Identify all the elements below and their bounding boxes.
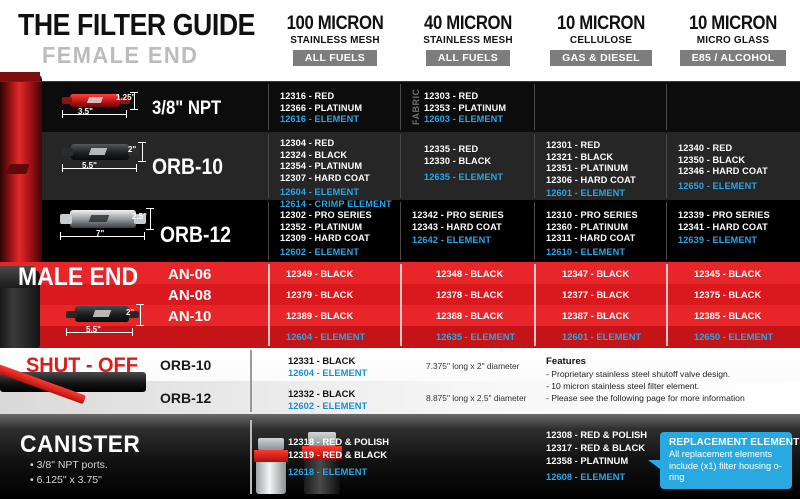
- part-male-10cell-an10: 12387 - BLACK: [562, 310, 629, 321]
- fuel-badge: GAS & DIESEL: [550, 50, 652, 66]
- part-male-40-element: 12635 - ELEMENT: [436, 331, 515, 342]
- part-canister-red-black: 12319 - RED & BLACK: [288, 449, 387, 460]
- female-end-section: 3.5" 1.25" 3/8" NPT 12316 - RED 12366 - …: [0, 82, 800, 262]
- column-divider: [268, 202, 269, 260]
- callout-tail: [648, 460, 660, 469]
- dimension-length-npt: 3.5": [78, 107, 93, 116]
- replacement-elements-callout: REPLACEMENT ELEMENTS All replacement ele…: [660, 432, 792, 489]
- size-label-an06: AN-06: [168, 266, 211, 283]
- size-label-shutoff-orb10: ORB-10: [160, 357, 211, 373]
- column-divider: [534, 202, 535, 260]
- column-divider: [268, 264, 270, 346]
- section-title-canister: CANISTER: [20, 431, 140, 459]
- part-male-10glass-an08: 12375 - BLACK: [694, 289, 761, 300]
- part-male-40-an10: 12388 - BLACK: [436, 310, 503, 321]
- part-cell-orb10-40: 12335 - RED 12330 - BLACK 12635 - ELEMEN…: [424, 144, 503, 184]
- element-canister-12618: 12618 - ELEMENT: [288, 466, 367, 477]
- canister-bullet-ports: • 3/8" NPT ports.: [30, 459, 108, 471]
- dimension-length-orb10: 5.5": [82, 161, 97, 170]
- column-header-100-micron: 100 MICRON STAINLESS MESH ALL FUELS: [270, 14, 400, 66]
- part-male-100-an06: 12349 - BLACK: [286, 268, 353, 279]
- size-label-npt: 3/8" NPT: [152, 98, 221, 120]
- column-divider: [666, 264, 668, 346]
- dimension-diameter-orb12: 2.5": [132, 212, 147, 221]
- dimension-length-male: 5.5": [86, 325, 101, 334]
- section-title-female-end: FEMALE END: [42, 44, 198, 67]
- element-shutoff-orb12: 12602 - ELEMENT: [288, 400, 367, 411]
- part-cell-orb12-100: 12302 - PRO SERIES 12352 - PLATINUM 1230…: [280, 210, 372, 258]
- part-cell-orb12-10microglass: 12339 - PRO SERIES 12341 - HARD COAT 126…: [678, 210, 770, 247]
- column-divider: [400, 202, 401, 260]
- part-male-100-element: 12604 - ELEMENT: [286, 331, 365, 342]
- part-cell-orb10-10cellulose: 12301 - RED 12321 - BLACK 12351 - PLATIN…: [546, 140, 636, 200]
- column-header-10-micron-cellulose: 10 MICRON CELLULOSE GAS & DIESEL: [536, 14, 666, 66]
- column-divider: [250, 420, 252, 494]
- part-cell-orb10-100: 12304 - RED 12324 - BLACK 12354 - PLATIN…: [280, 138, 392, 211]
- column-divider: [400, 134, 401, 198]
- element-canister-12608: 12608 - ELEMENT: [546, 471, 625, 482]
- male-end-section: MALE END 5.5" 2" AN-06 AN-08 AN-10 12349…: [0, 262, 800, 348]
- part-shutoff-orb12: 12332 - BLACK: [288, 388, 355, 399]
- section-title-male-end: MALE END: [18, 263, 138, 292]
- column-divider: [268, 134, 269, 198]
- callout-line-2: include (x1) filter housing o-ring: [669, 461, 784, 483]
- column-divider: [666, 84, 667, 130]
- size-label-orb12: ORB-12: [160, 222, 231, 248]
- dimension-diameter-orb10: 2": [128, 145, 136, 154]
- part-canister2-platinum: 12358 - PLATINUM: [546, 455, 628, 466]
- header: THE FILTER GUIDE FEMALE END 100 MICRON S…: [0, 0, 800, 82]
- column-divider: [268, 84, 269, 130]
- part-male-10glass-element: 12650 - ELEMENT: [694, 331, 773, 342]
- part-male-40-an06: 12348 - BLACK: [436, 268, 503, 279]
- dimension-shutoff-orb12: 8.875" long x 2.5" diameter: [426, 393, 526, 403]
- column-header-40-micron: 40 MICRON STAINLESS MESH ALL FUELS: [402, 14, 534, 66]
- part-male-100-an08: 12379 - BLACK: [286, 289, 353, 300]
- feature-item: - Please see the following page for more…: [546, 393, 745, 403]
- shut-off-section: SHUT - OFF ORB-10 ORB-12 12331 - BLACK 1…: [0, 348, 800, 414]
- column-divider: [400, 84, 401, 130]
- part-cell-orb12-10cellulose: 12310 - PRO SERIES 12360 - PLATINUM 1231…: [546, 210, 638, 258]
- page-title: THE FILTER GUIDE: [18, 9, 255, 40]
- size-label-an10: AN-10: [168, 308, 211, 325]
- canister-bullet-size: • 6.125" x 3.75": [30, 474, 102, 486]
- part-cell-orb12-40: 12342 - PRO SERIES 12343 - HARD COAT 126…: [412, 210, 504, 247]
- dimension-diameter-npt: 1.25": [116, 93, 135, 102]
- part-male-40-an08: 12378 - BLACK: [436, 289, 503, 300]
- column-divider: [534, 264, 536, 346]
- dimension-length-orb12: 7": [96, 229, 104, 238]
- part-male-10cell-element: 12601 - ELEMENT: [562, 331, 641, 342]
- canister-photo-polish: [252, 438, 290, 494]
- part-cell-npt-100: 12316 - RED 12366 - PLATINUM 12616 - ELE…: [280, 91, 362, 126]
- column-divider: [534, 84, 535, 130]
- part-male-10glass-an06: 12345 - BLACK: [694, 268, 761, 279]
- part-cell-npt-40: 12303 - RED 12353 - PLATINUM 12603 - ELE…: [424, 91, 506, 126]
- features-title: Features: [546, 356, 586, 367]
- fuel-badge: ALL FUELS: [426, 50, 510, 66]
- feature-item: - 10 micron stainless steel filter eleme…: [546, 381, 699, 391]
- column-divider: [666, 202, 667, 260]
- column-divider: [400, 264, 402, 346]
- part-canister2-red-black: 12317 - RED & BLACK: [546, 442, 645, 453]
- part-male-10cell-an06: 12347 - BLACK: [562, 268, 629, 279]
- column-divider: [666, 134, 667, 198]
- filter-guide-chart: THE FILTER GUIDE FEMALE END 100 MICRON S…: [0, 0, 800, 499]
- part-canister-red-polish: 12318 - RED & POLISH: [288, 436, 389, 447]
- size-label-an08: AN-08: [168, 287, 211, 304]
- red-bottle-logo: [6, 164, 29, 174]
- canister-section: CANISTER • 3/8" NPT ports. • 6.125" x 3.…: [0, 414, 800, 499]
- part-male-10cell-an08: 12377 - BLACK: [562, 289, 629, 300]
- part-cell-orb10-10microglass: 12340 - RED 12350 - BLACK 12346 - HARD C…: [678, 143, 768, 192]
- part-male-100-an10: 12389 - BLACK: [286, 310, 353, 321]
- dimension-diameter-male: 2": [126, 308, 134, 317]
- dimension-shutoff-orb10: 7.375" long x 2" diameter: [426, 361, 519, 371]
- size-label-shutoff-orb12: ORB-12: [160, 390, 211, 406]
- part-canister2-red-polish: 12308 - RED & POLISH: [546, 429, 647, 440]
- header-divider: [0, 81, 800, 82]
- column-header-10-micron-micro-glass: 10 MICRON MICRO GLASS E85 / ALCOHOL: [668, 14, 798, 66]
- part-male-10glass-an10: 12385 - BLACK: [694, 310, 761, 321]
- callout-line-1: All replacement elements: [669, 449, 784, 460]
- column-divider: [250, 350, 252, 412]
- element-shutoff-orb10: 12604 - ELEMENT: [288, 367, 367, 378]
- fabric-tag: FABRIC: [411, 91, 421, 125]
- fuel-badge: ALL FUELS: [293, 50, 377, 66]
- callout-title: REPLACEMENT ELEMENTS: [669, 437, 784, 448]
- fuel-badge: E85 / ALCOHOL: [680, 50, 787, 66]
- filter-photo-orb10: [62, 144, 138, 160]
- section-title-shut-off: SHUT - OFF: [26, 354, 138, 378]
- part-shutoff-orb10: 12331 - BLACK: [288, 355, 355, 366]
- feature-item: - Proprietary stainless steel shutoff va…: [546, 369, 730, 379]
- column-divider: [534, 134, 535, 198]
- size-label-orb10: ORB-10: [152, 154, 223, 180]
